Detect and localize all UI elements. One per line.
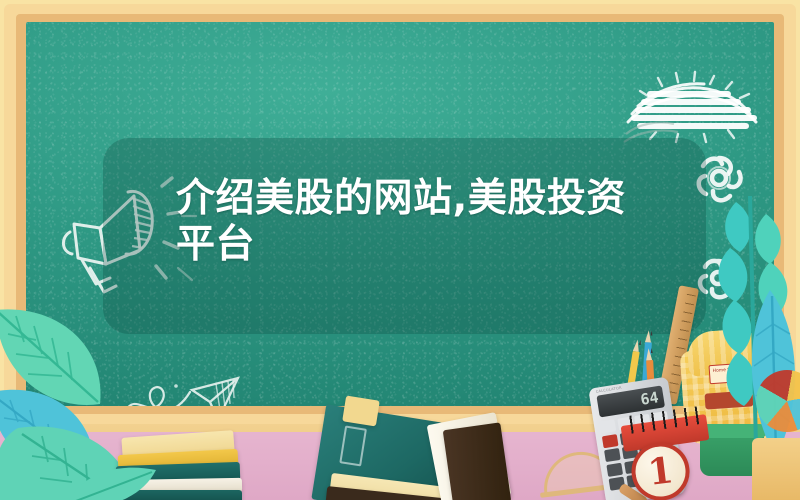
- magnifier-number: 1: [628, 439, 693, 500]
- pencil-blue-tip: [645, 330, 652, 342]
- chalkboard-surface: 介绍美股的网站,美股投资平台: [26, 22, 774, 406]
- pencil-orange-lead: [651, 348, 653, 353]
- calculator-key: [602, 434, 619, 448]
- calculator-key: [604, 448, 621, 462]
- pencil-yellow-tip: [633, 339, 641, 352]
- paper-plane-chalk-drawing: [122, 364, 252, 406]
- book-center-page: [342, 396, 380, 427]
- pencil-orange-tip: [646, 348, 653, 360]
- calculator-key: [600, 419, 617, 433]
- pen-cup: [700, 430, 764, 476]
- magnifier: 1: [628, 438, 702, 500]
- page-title-text: 介绍美股的网站,美股投资平台: [176, 176, 646, 268]
- backpack-strap: [704, 390, 753, 409]
- banner-canvas: 介绍美股的网站,美股投资平台: [0, 0, 800, 500]
- backpack-tag: Home Sweet: [709, 363, 746, 384]
- book-stack-teal-bottom: [112, 490, 242, 500]
- book-center-emblem: [339, 425, 367, 466]
- calculator-key: [606, 462, 623, 476]
- cloud-scribble-chalk-drawing: [618, 52, 768, 148]
- page-title: 介绍美股的网站,美股投资平台: [176, 176, 646, 268]
- book-open-cover: [443, 422, 512, 500]
- pencil-blue-lead: [651, 330, 653, 335]
